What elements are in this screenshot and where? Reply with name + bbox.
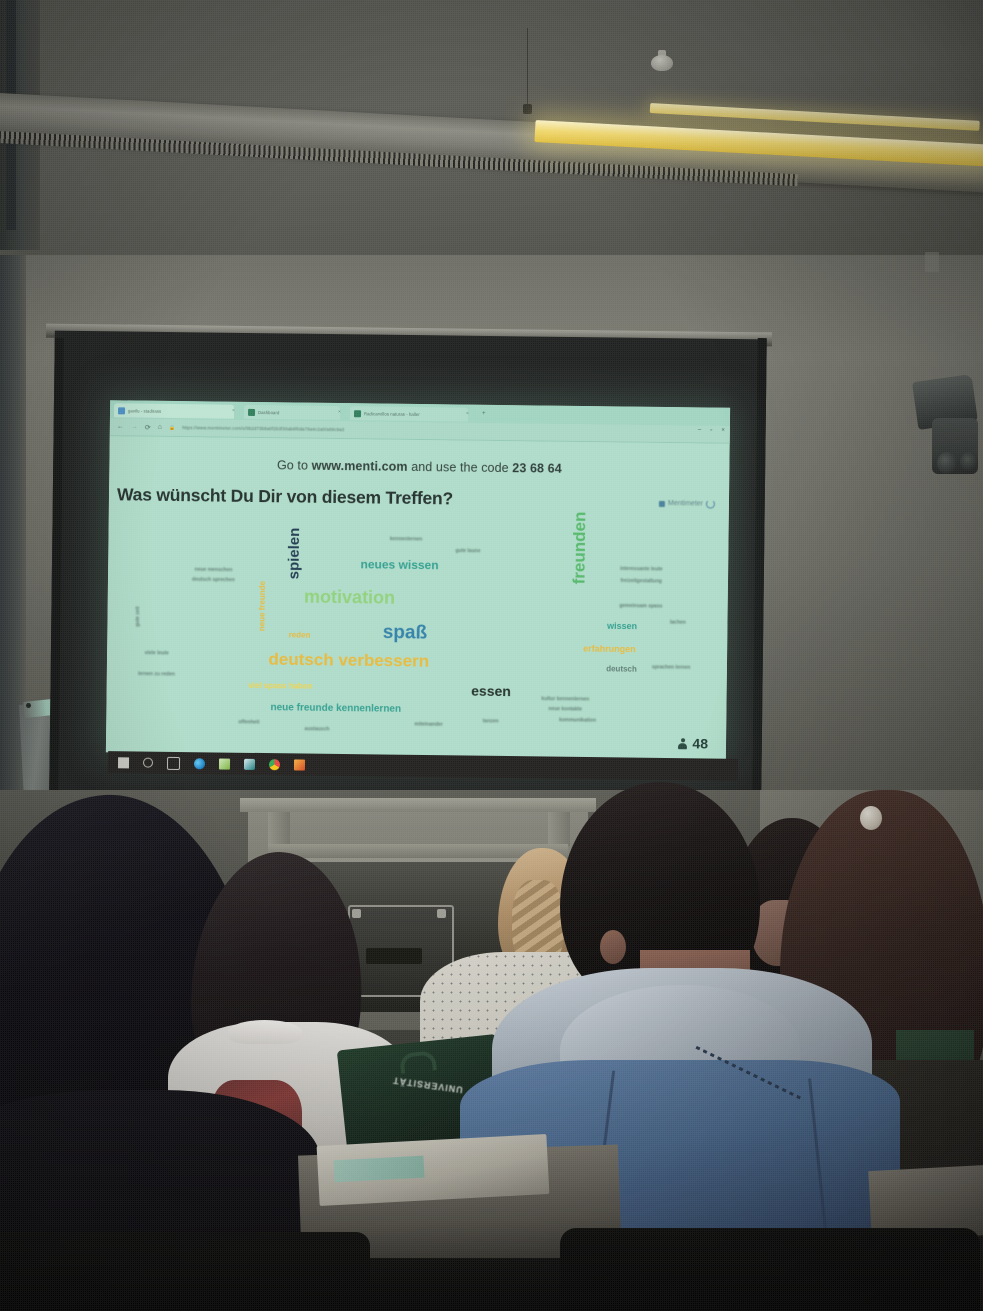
- lock-icon: 🔒: [169, 424, 175, 430]
- flipchart-knob: [26, 703, 31, 708]
- participant-counter: 48: [678, 735, 708, 751]
- projected-browser-window: gavilu - stadirass × Dashboard × Radicar…: [106, 400, 730, 760]
- window-controls: – ▫ ×: [698, 427, 725, 433]
- mantel-column-right: [548, 812, 570, 846]
- forward-arrow-icon: →: [131, 423, 138, 430]
- cloud-word: gemeinsam spass: [619, 604, 662, 610]
- mentimeter-mark-icon: [659, 500, 665, 506]
- mentimeter-ring-icon: [706, 500, 715, 509]
- tab-label: Dashboard: [258, 410, 279, 415]
- audience-member-2-collar: [228, 1020, 302, 1044]
- browser-tab-0[interactable]: gavilu - stadirass: [114, 403, 234, 418]
- task-view-icon[interactable]: [167, 756, 180, 769]
- cloud-word: neue freunde kennenlernen: [270, 704, 401, 716]
- close-icon[interactable]: ×: [466, 411, 469, 417]
- cloud-word: gute laune: [455, 548, 480, 553]
- case-corner-icon: [352, 909, 361, 918]
- classroom-photo: gavilu - stadirass × Dashboard × Radicar…: [0, 0, 983, 1311]
- browser-tab-2[interactable]: Radicarvillos naturas - haller: [350, 406, 468, 421]
- participant-count: 48: [692, 735, 708, 751]
- url-text[interactable]: https://www.mentimeter.com/s/0b2d73b8a0f…: [182, 425, 344, 432]
- chrome-browser-icon[interactable]: [269, 759, 280, 770]
- maximize-icon[interactable]: ▫: [710, 428, 712, 434]
- cloud-word: interessante leute: [620, 567, 663, 573]
- reload-icon[interactable]: ⟳: [145, 423, 151, 431]
- cloud-word: wissen: [607, 622, 637, 631]
- cloud-word: motivation: [304, 587, 395, 606]
- person-icon: [678, 738, 687, 749]
- cloud-word: deutsch verbessern: [268, 651, 429, 670]
- cloud-word: deutsch: [606, 666, 637, 674]
- tab-favicon-icon: [118, 407, 125, 414]
- smoke-detector-icon: [651, 55, 673, 71]
- file-explorer-icon[interactable]: [219, 758, 230, 769]
- case-corner-icon: [437, 909, 446, 918]
- cloud-word: freizeitgestaltung: [620, 579, 661, 585]
- hair-clip-icon: [860, 806, 882, 830]
- search-icon[interactable]: [143, 758, 153, 768]
- cloud-word: spaß: [383, 623, 428, 643]
- wall-fixture-mark: [925, 252, 939, 272]
- browser-tab-1[interactable]: Dashboard: [244, 405, 340, 420]
- cloud-word: gute zeit: [136, 607, 141, 627]
- wall-speaker-driver: [937, 452, 957, 474]
- chair-back-left: [0, 1232, 370, 1311]
- mantel-shelf: [240, 798, 596, 812]
- tab-favicon-icon: [354, 410, 361, 417]
- slide-question: Was wünscht Du Dir von diesem Treffen?: [117, 484, 453, 509]
- menti-instruction: Go to www.menti.com and use the code 23 …: [109, 456, 729, 478]
- close-icon[interactable]: ×: [338, 409, 341, 415]
- cloud-word: tanzen: [483, 719, 499, 724]
- mail-icon[interactable]: [244, 758, 255, 769]
- cloud-word: freunden: [571, 512, 589, 585]
- cloud-word: offenheit: [238, 720, 259, 725]
- cloud-word: essen: [471, 684, 511, 698]
- chair-back-right: [560, 1228, 980, 1311]
- cloud-word: erfahrungen: [583, 644, 636, 654]
- mentimeter-wordmark: Mentimeter: [668, 500, 703, 507]
- minimize-icon[interactable]: –: [698, 427, 701, 433]
- instruction-middle: and use the code: [408, 460, 513, 475]
- teal-handout: [333, 1156, 424, 1183]
- light-hanger-wire: [527, 28, 528, 108]
- close-icon[interactable]: ×: [232, 408, 235, 414]
- tab-label: gavilu - stadirass: [128, 408, 161, 413]
- back-arrow-icon[interactable]: ←: [117, 423, 124, 430]
- cloud-word: lernen zu reden: [138, 672, 175, 677]
- cloud-word: lachen: [670, 621, 686, 626]
- tab-favicon-icon: [248, 408, 255, 415]
- light-hanger-knob: [523, 104, 532, 114]
- instruction-prefix: Go to: [277, 458, 312, 472]
- cloud-word: spielen: [287, 527, 303, 579]
- mentimeter-slide: Go to www.menti.com and use the code 23 …: [106, 436, 730, 760]
- tab-label: Radicarvillos naturas - haller: [364, 411, 420, 417]
- cloud-word: viel spass haben: [248, 682, 312, 691]
- home-icon[interactable]: ⌂: [158, 424, 162, 431]
- menti-url: www.menti.com: [312, 459, 408, 474]
- cloud-word: deutsch sprechen: [192, 578, 235, 584]
- cloud-word: miteinander: [414, 722, 442, 727]
- cloud-word: neue freunde: [258, 581, 267, 631]
- pdf-icon[interactable]: [294, 759, 305, 770]
- mentimeter-logo: Mentimeter: [659, 499, 715, 509]
- new-tab-button[interactable]: +: [482, 411, 486, 417]
- cloud-word: kultur kennenlernen: [541, 697, 589, 703]
- cloud-word: neues wissen: [360, 558, 438, 571]
- wall-speaker-driver-2: [960, 452, 978, 472]
- cloud-word: viele leute: [145, 651, 169, 656]
- close-icon[interactable]: ×: [721, 428, 725, 434]
- cloud-word: reden: [289, 631, 311, 639]
- cloud-word: austausch: [305, 727, 330, 732]
- mantel-column-left: [268, 812, 290, 846]
- audience-member-4-ear: [600, 930, 626, 964]
- word-cloud: deutsch verbessernmotivationspaßfreunden…: [106, 526, 728, 739]
- cloud-word: neue menschen: [195, 568, 233, 573]
- windows-icon[interactable]: [118, 757, 129, 768]
- cloud-word: kennenlernen: [390, 537, 423, 542]
- cloud-word: neue kontakte: [548, 707, 582, 712]
- cloud-word: kommunikation: [559, 718, 596, 723]
- edge-browser-icon[interactable]: [194, 758, 205, 769]
- menti-code: 23 68 64: [512, 461, 562, 476]
- cloud-word: sprachen lernen: [652, 666, 691, 671]
- equipment-display: [366, 948, 422, 964]
